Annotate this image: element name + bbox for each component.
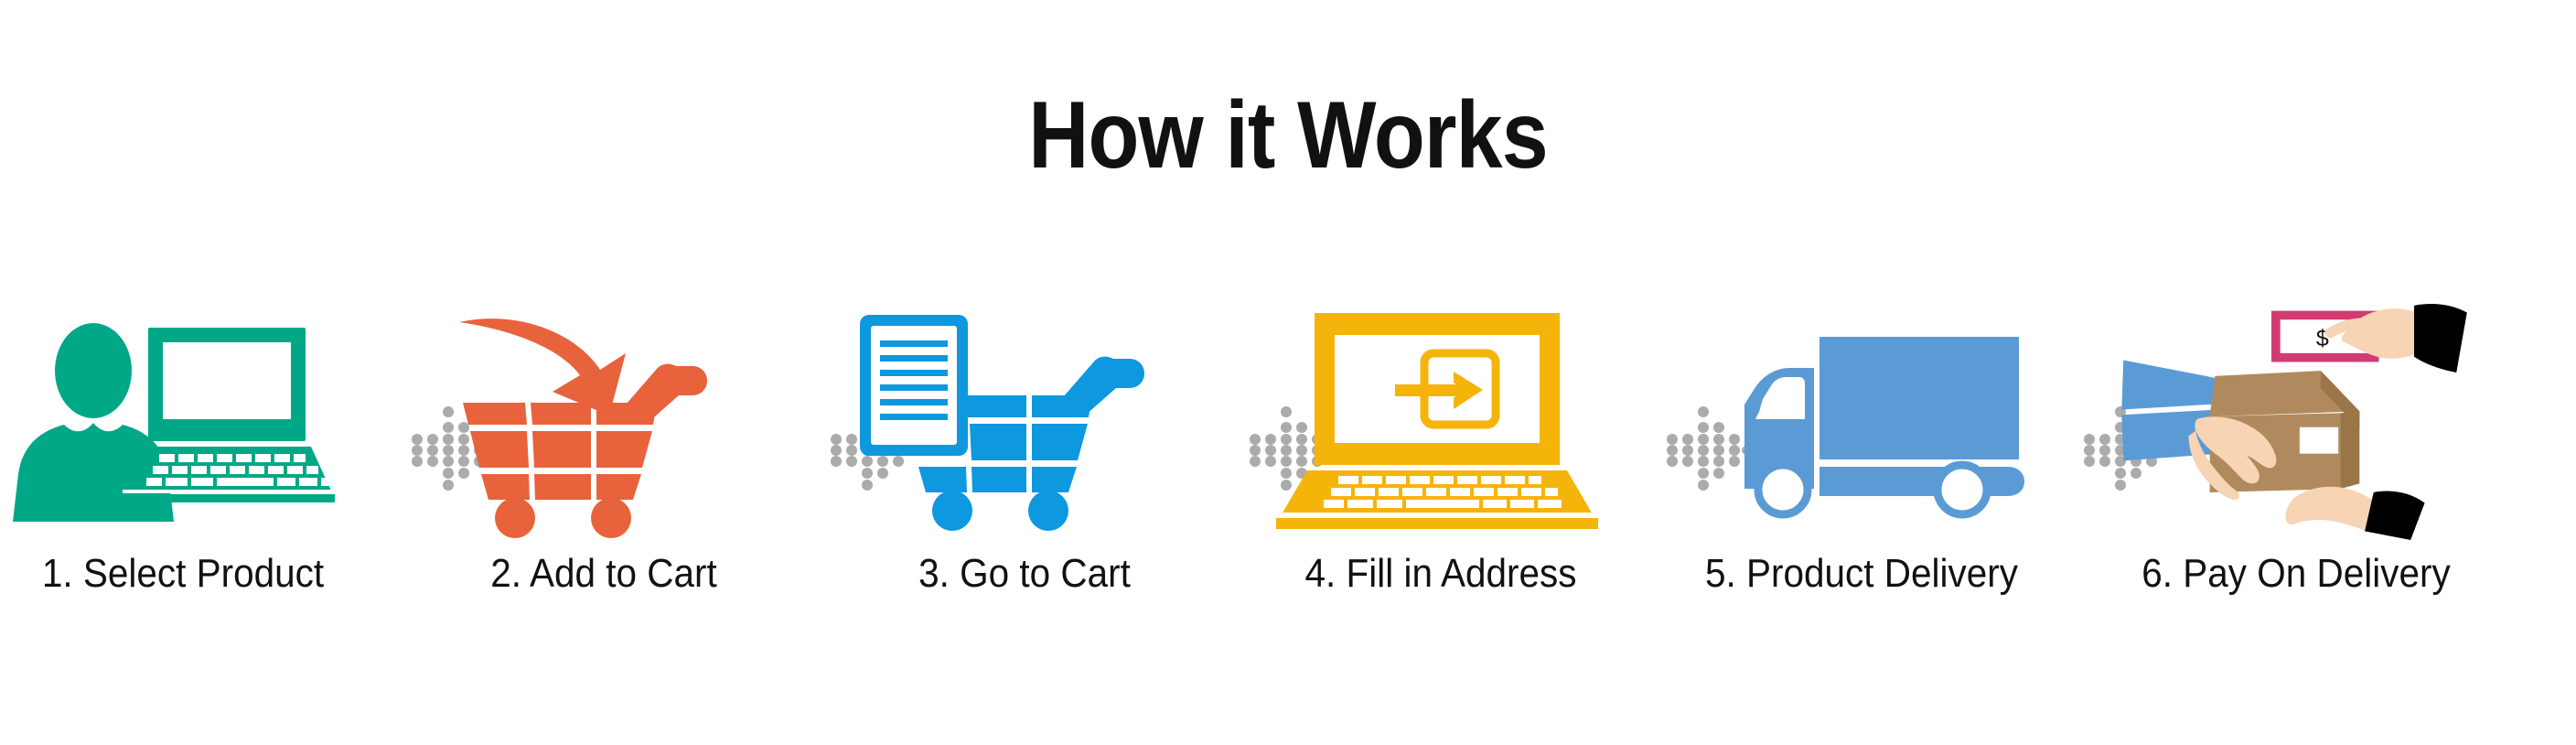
- step-3-go-to-cart[interactable]: 3. Go to Cart: [851, 302, 1198, 668]
- step-5-label: 5. Product Delivery: [1701, 551, 2022, 597]
- steps-row: 1. Select Product: [0, 302, 2576, 668]
- step-1-label: 1. Select Product: [23, 551, 343, 597]
- step-5-product-delivery[interactable]: 5. Product Delivery: [1688, 302, 2035, 668]
- step-6-pay-on-delivery[interactable]: $: [2104, 302, 2488, 668]
- shopping-cart-with-arrow-icon: [430, 302, 778, 540]
- document-with-cart-icon: [851, 302, 1198, 540]
- step-4-fill-in-address[interactable]: 4. Fill in Address: [1267, 302, 1615, 668]
- delivery-truck-icon: [1688, 302, 2035, 540]
- step-2-add-to-cart[interactable]: 2. Add to Cart: [430, 302, 778, 668]
- page-title: How it Works: [155, 88, 2421, 183]
- receiving-hand: [2285, 487, 2424, 540]
- step-6-label: 6. Pay On Delivery: [2120, 551, 2473, 597]
- person-with-laptop-icon: [9, 302, 357, 540]
- hands-exchanging-box-and-money-icon: $: [2104, 302, 2488, 540]
- blue-sleeve-left: [2121, 361, 2220, 461]
- step-1-select-product[interactable]: 1. Select Product: [9, 302, 357, 668]
- step-2-label: 2. Add to Cart: [444, 551, 764, 597]
- step-4-label: 4. Fill in Address: [1281, 551, 1601, 597]
- infographic-page: How it Works: [0, 0, 2576, 745]
- laptop-with-login-arrow-icon: [1267, 302, 1615, 540]
- step-3-label: 3. Go to Cart: [864, 551, 1185, 597]
